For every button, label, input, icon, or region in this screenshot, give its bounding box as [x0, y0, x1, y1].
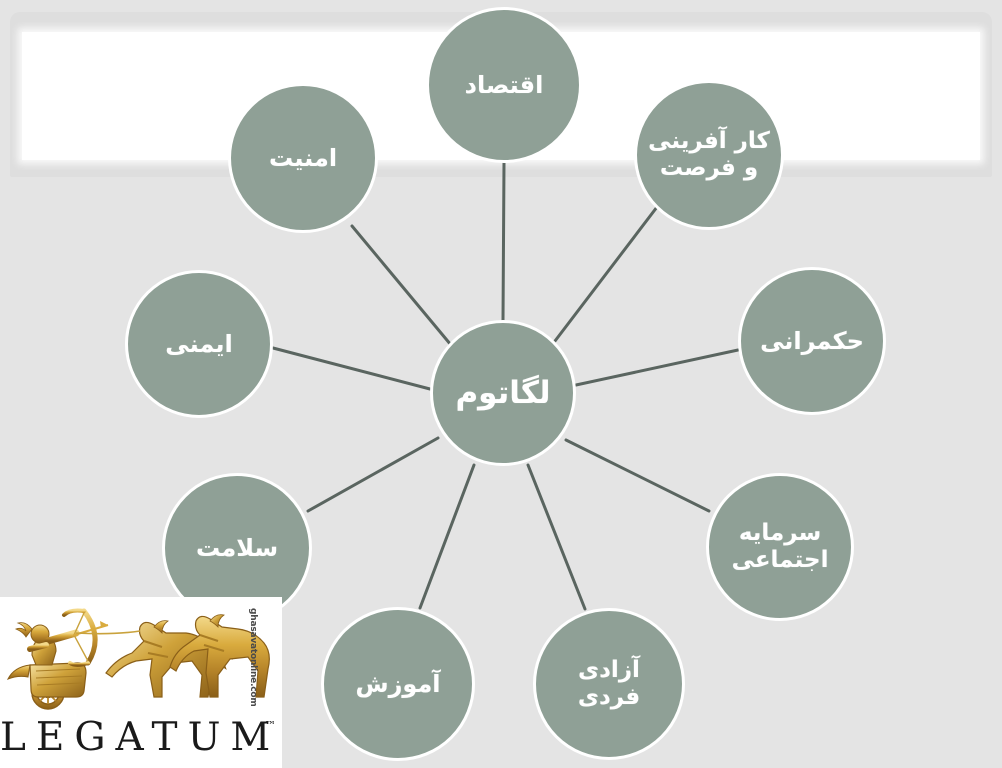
node-personal-freedom[interactable]: آزادی فردی	[533, 608, 685, 760]
node-governance-label: حکمرانی	[754, 327, 870, 355]
node-education[interactable]: آموزش	[321, 607, 475, 761]
node-safety[interactable]: ایمنی	[125, 270, 273, 418]
link-center-entrepreneurship	[555, 207, 657, 341]
node-health-label: سلامت	[190, 534, 284, 562]
node-security[interactable]: امنیت	[228, 83, 378, 233]
link-center-safety	[273, 348, 430, 389]
node-social-capital-label: سرمایه اجتماعی	[726, 520, 835, 574]
link-center-education	[420, 465, 474, 608]
legatum-logo-block: LEGATUM ™	[0, 597, 282, 768]
link-center-personal-freedom	[528, 465, 585, 609]
link-center-health	[308, 438, 438, 511]
node-governance[interactable]: حکمرانی	[738, 267, 886, 415]
node-safety-label: ایمنی	[159, 330, 238, 358]
node-entrepreneurship[interactable]: کار آفرینی و فرصت	[634, 80, 784, 230]
legatum-wordmark: LEGATUM	[0, 715, 272, 760]
slide-canvas: اقتصاد کار آفرینی و فرصت حکمرانی سرمایه …	[0, 0, 1002, 768]
node-center-label: لگاتوم	[449, 375, 556, 412]
link-center-economy	[503, 163, 504, 320]
node-economy-label: اقتصاد	[459, 71, 550, 99]
node-personal-freedom-label: آزادی فردی	[572, 657, 646, 711]
node-education-label: آموزش	[349, 670, 446, 698]
legatum-trademark-symbol: ™	[265, 719, 276, 732]
chariot-archer-horses-icon	[4, 601, 276, 717]
link-center-security	[352, 226, 451, 345]
node-center-legatum[interactable]: لگاتوم	[430, 320, 576, 466]
link-center-governance	[576, 350, 738, 385]
node-entrepreneurship-label: کار آفرینی و فرصت	[642, 128, 776, 182]
node-security-label: امنیت	[263, 144, 343, 172]
node-economy[interactable]: اقتصاد	[426, 7, 582, 163]
link-center-social-capital	[566, 440, 709, 511]
site-watermark: ghasavatonline.com	[244, 608, 258, 718]
node-social-capital[interactable]: سرمایه اجتماعی	[706, 473, 854, 621]
